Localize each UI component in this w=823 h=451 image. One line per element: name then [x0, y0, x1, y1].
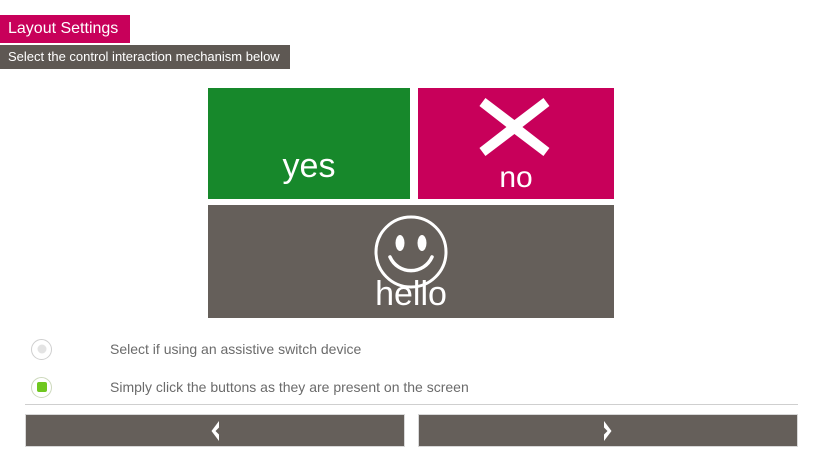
- page-title: Layout Settings: [0, 15, 130, 43]
- radio-dot: [37, 382, 47, 392]
- no-button-label: no: [418, 161, 614, 195]
- hello-button-label: hello: [208, 274, 614, 314]
- option-row-direct-click[interactable]: Simply click the buttons as they are pre…: [0, 368, 823, 406]
- option-row-assistive-switch[interactable]: Select if using an assistive switch devi…: [0, 330, 823, 368]
- option-label-assistive-switch: Select if using an assistive switch devi…: [110, 341, 361, 357]
- control-preview-grid: yes no hello: [208, 88, 614, 318]
- footer-divider: [25, 404, 798, 405]
- yes-button-label: yes: [208, 147, 410, 185]
- option-label-direct-click: Simply click the buttons as they are pre…: [110, 379, 469, 395]
- chevron-right-icon: [595, 418, 621, 444]
- no-button[interactable]: no: [418, 88, 614, 199]
- yes-button[interactable]: yes: [208, 88, 410, 199]
- radio-dot: [37, 345, 46, 354]
- page-subtitle: Select the control interaction mechanism…: [0, 45, 290, 69]
- radio-direct-click[interactable]: [31, 377, 52, 398]
- radio-assistive-switch[interactable]: [31, 339, 52, 360]
- chevron-left-icon: [202, 418, 228, 444]
- previous-button[interactable]: [25, 414, 405, 447]
- next-button[interactable]: [418, 414, 798, 447]
- cross-icon: [475, 94, 553, 160]
- hello-button[interactable]: hello: [208, 205, 614, 318]
